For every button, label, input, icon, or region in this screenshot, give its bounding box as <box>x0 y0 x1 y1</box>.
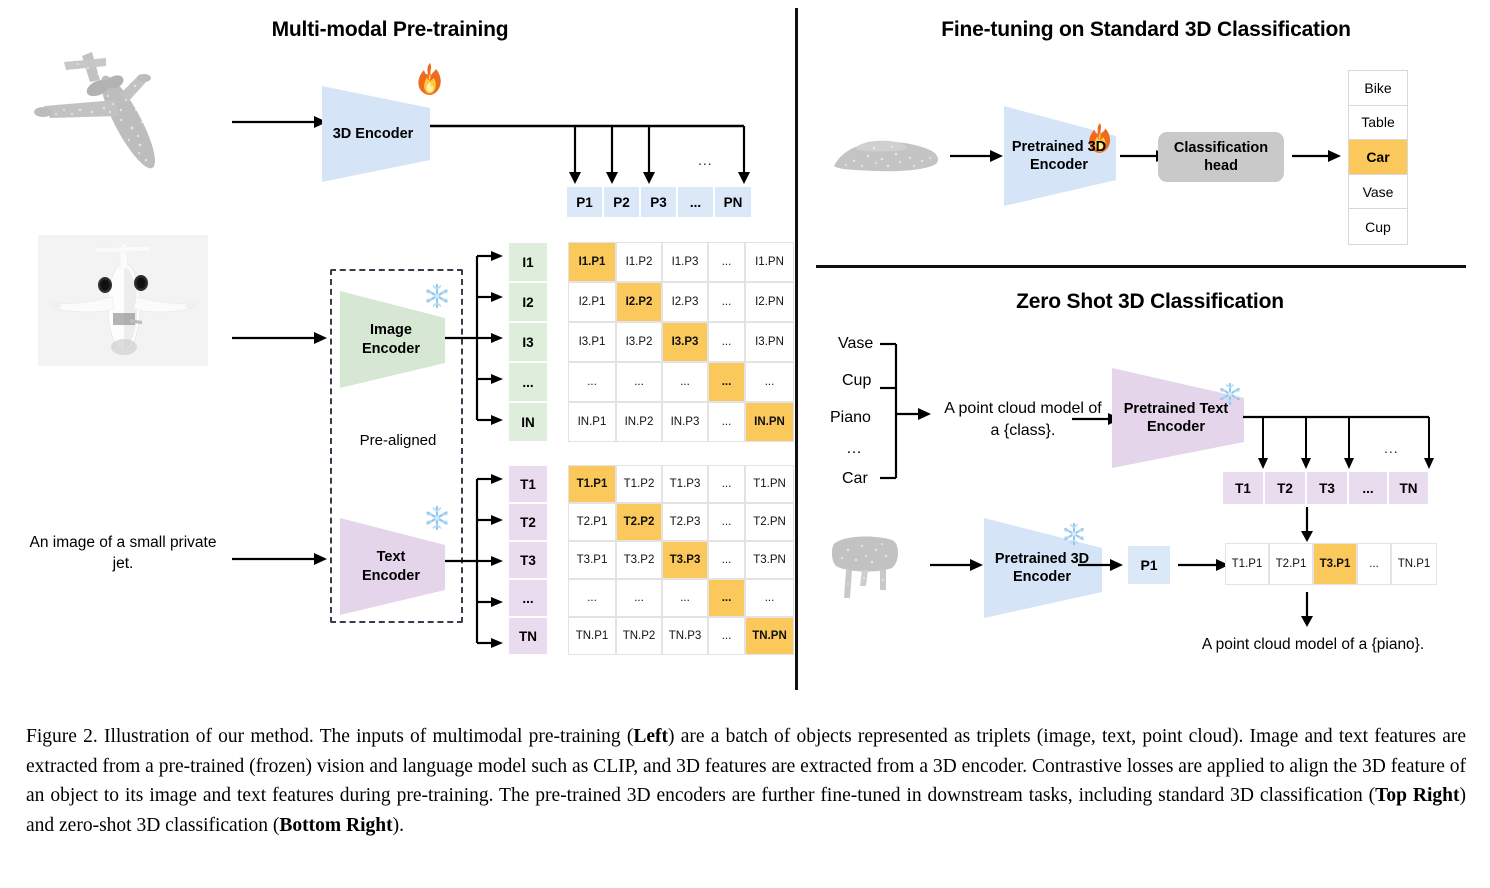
fanout-image-encoder-to-i-features <box>445 250 505 420</box>
zeroshot-class-item[interactable]: Piano <box>830 409 871 427</box>
text-point-similarity-matrix: T1.P1 T1.P2 T1.P3 ... T1.PN T2.P1 T2.P2 … <box>568 465 794 655</box>
zeroshot-class-item[interactable]: … <box>846 440 862 458</box>
matrix-cell[interactable]: ... <box>708 503 745 541</box>
encoder-3d[interactable]: 3D Encoder <box>322 86 430 182</box>
table-row: T1.P1 T1.P2 T1.P3 ... T1.PN <box>568 465 794 503</box>
i-feature-chip[interactable]: I2 <box>508 282 548 322</box>
pretrained-text-encoder-line2: Encoder <box>1124 418 1229 436</box>
t-feature-chip[interactable]: ... <box>1348 471 1388 505</box>
text-input-caption-value: An image of a small private jet. <box>30 534 217 572</box>
arrow-scores-to-result <box>1298 592 1316 628</box>
p-fanout-ellipsis: ... <box>698 152 713 168</box>
text-input-caption: An image of a small private jet. <box>25 533 221 575</box>
class-list-item[interactable]: Cup <box>1349 209 1407 244</box>
p-feature-chip[interactable]: PN <box>714 186 752 218</box>
text-encoder[interactable]: Text Encoder <box>340 518 445 615</box>
matrix-cell[interactable]: T1.P1 <box>568 465 616 503</box>
pretrained-3d-encoder-zeroshot-line2: Encoder <box>995 568 1089 586</box>
zeroshot-result-text: A point cloud model of a {piano}. <box>1168 636 1458 654</box>
matrix-cell[interactable]: I1.P3 <box>662 242 708 282</box>
matrix-cell[interactable]: T2.P2 <box>616 503 662 541</box>
fire-icon <box>415 62 445 96</box>
classification-head-line1: Classification <box>1174 139 1268 157</box>
matrix-cell[interactable]: TN.P2 <box>616 617 662 655</box>
pretrained-3d-encoder-label: Pretrained 3D Encoder <box>1012 138 1106 174</box>
bottom-right-panel-title: Zero Shot 3D Classification <box>970 290 1330 314</box>
matrix-cell[interactable]: T3.P1 <box>568 541 616 579</box>
zeroshot-class-item[interactable]: Cup <box>842 372 871 390</box>
pretrained-3d-encoder-line2: Encoder <box>1012 156 1106 174</box>
p-feature-chip[interactable]: P2 <box>603 186 640 218</box>
matrix-cell[interactable]: ... <box>708 362 745 402</box>
vertical-divider <box>795 8 798 690</box>
arrow-piano-to-pretrained-3d-encoder <box>930 556 986 574</box>
i-feature-chip[interactable]: I1 <box>508 242 548 282</box>
class-list-item[interactable]: Table <box>1349 106 1407 141</box>
t-feature-chip[interactable]: TN <box>508 617 548 655</box>
t-feature-chip[interactable]: T3 <box>1306 471 1348 505</box>
matrix-cell[interactable]: I2.P3 <box>662 282 708 322</box>
encoder-3d-label: 3D Encoder <box>333 125 414 143</box>
p-feature-chip[interactable]: P3 <box>640 186 677 218</box>
t-feature-chip[interactable]: TN <box>1388 471 1429 505</box>
matrix-cell[interactable]: TN.P3 <box>662 617 708 655</box>
matrix-cell[interactable]: TN.P1 <box>568 617 616 655</box>
table-row: T1.P1 T2.P1 T3.P1 ... TN.P1 <box>1225 543 1437 585</box>
matrix-cell[interactable]: I3.P1 <box>568 322 616 362</box>
matrix-cell[interactable]: T2.P1 <box>568 503 616 541</box>
matrix-cell[interactable]: ... <box>708 322 745 362</box>
matrix-cell[interactable]: T3.P2 <box>616 541 662 579</box>
matrix-cell[interactable]: T3.P3 <box>662 541 708 579</box>
arrow-t-chips-to-scores <box>1298 507 1316 543</box>
figure-caption: Figure 2. Illustration of our method. Th… <box>26 722 1466 841</box>
car-point-cloud <box>826 128 946 184</box>
pretrained-text-encoder-label: Pretrained Text Encoder <box>1124 400 1229 436</box>
finetune-class-list: Bike Table Car Vase Cup <box>1348 70 1408 245</box>
top-right-panel-title: Fine-tuning on Standard 3D Classificatio… <box>886 18 1406 42</box>
matrix-cell[interactable]: I2.PN <box>745 282 794 322</box>
piano-point-cloud <box>828 528 916 606</box>
class-list-item-selected[interactable]: Car <box>1349 140 1407 175</box>
matrix-cell[interactable]: ... <box>568 579 616 617</box>
pretrained-3d-encoder-zeroshot-line1: Pretrained 3D <box>995 550 1089 568</box>
t-fanout-ellipsis: ... <box>1384 440 1399 456</box>
arrow-image-to-image-encoder <box>232 328 332 348</box>
t-feature-chip[interactable]: T2 <box>508 503 548 541</box>
pretrained-text-encoder-line1: Pretrained Text <box>1124 400 1229 418</box>
matrix-cell[interactable]: I1.P2 <box>616 242 662 282</box>
i-feature-chip[interactable]: I3 <box>508 322 548 362</box>
image-encoder-label-line1: Image <box>362 321 420 339</box>
matrix-cell[interactable]: IN.P3 <box>662 402 708 442</box>
matrix-cell[interactable]: ... <box>708 282 745 322</box>
t-feature-column: T1 T2 T3 ... TN <box>508 465 548 655</box>
caption-text: Figure 2. Illustration of our method. Th… <box>26 726 1466 836</box>
matrix-cell[interactable]: ... <box>708 242 745 282</box>
matrix-cell[interactable]: I1.P1 <box>568 242 616 282</box>
t-feature-chip[interactable]: T1 <box>1222 471 1264 505</box>
table-row: I2.P1 I2.P2 I2.P3 ... I2.PN <box>568 282 794 322</box>
table-row: T3.P1 T3.P2 T3.P3 ... T3.PN <box>568 541 794 579</box>
matrix-cell[interactable]: TN.PN <box>745 617 794 655</box>
airplane-point-cloud <box>20 50 220 200</box>
i-feature-chip[interactable]: IN <box>508 402 548 442</box>
matrix-cell[interactable]: T2.PN <box>745 503 794 541</box>
classification-head[interactable]: Classification head <box>1158 132 1284 182</box>
score-cell-selected[interactable]: T3.P1 <box>1313 543 1357 585</box>
t-feature-chip[interactable]: T1 <box>508 465 548 503</box>
pre-aligned-label: Pre-aligned <box>343 432 453 449</box>
text-encoder-label-line1: Text <box>362 548 420 566</box>
classification-head-line2: head <box>1174 157 1268 175</box>
arrow-text-to-text-encoder <box>232 549 332 569</box>
t-feature-chip[interactable]: ... <box>508 579 548 617</box>
pretrained-3d-encoder-line1: Pretrained 3D <box>1012 138 1106 156</box>
matrix-cell[interactable]: ... <box>745 362 794 402</box>
matrix-cell[interactable]: I3.P2 <box>616 322 662 362</box>
i-feature-column: I1 I2 I3 ... IN <box>508 242 548 442</box>
classification-head-label: Classification head <box>1174 139 1268 175</box>
matrix-cell[interactable]: I2.P2 <box>616 282 662 322</box>
table-row: TN.P1 TN.P2 TN.P3 ... TN.PN <box>568 617 794 655</box>
matrix-cell[interactable]: T1.P3 <box>662 465 708 503</box>
p-feature-chip[interactable]: P1 <box>566 186 603 218</box>
p-feature-chip[interactable]: ... <box>677 186 714 218</box>
pretrained-3d-encoder-finetune[interactable]: Pretrained 3D Encoder <box>1004 106 1116 206</box>
matrix-cell[interactable]: ... <box>616 362 662 402</box>
t-feature-chip[interactable]: T2 <box>1264 471 1306 505</box>
arrow-car-to-pretrained-encoder <box>950 147 1006 165</box>
score-cell[interactable]: T1.P1 <box>1225 543 1269 585</box>
figure-root: Multi-modal Pre-training <box>0 0 1490 888</box>
score-cell[interactable]: T2.P1 <box>1269 543 1313 585</box>
image-encoder-label: Image Encoder <box>362 321 420 357</box>
zeroshot-class-item[interactable]: Car <box>842 470 868 488</box>
matrix-cell[interactable]: ... <box>708 541 745 579</box>
matrix-cell[interactable]: I1.PN <box>745 242 794 282</box>
t-feature-chip[interactable]: T3 <box>508 541 548 579</box>
p1-feature-chip[interactable]: P1 <box>1128 546 1170 584</box>
matrix-cell[interactable]: T1.P2 <box>616 465 662 503</box>
matrix-cell[interactable]: I3.P3 <box>662 322 708 362</box>
matrix-cell[interactable]: ... <box>568 362 616 402</box>
matrix-cell[interactable]: T3.PN <box>745 541 794 579</box>
arrow-pointcloud-to-3d-encoder <box>232 112 332 132</box>
table-row: T2.P1 T2.P2 T2.P3 ... T2.PN <box>568 503 794 541</box>
table-row: IN.P1 IN.P2 IN.P3 ... IN.PN <box>568 402 794 442</box>
fanout-text-encoder-to-t-features <box>445 473 505 643</box>
matrix-cell[interactable]: IN.PN <box>745 402 794 442</box>
matrix-cell[interactable]: IN.P2 <box>616 402 662 442</box>
class-list-item[interactable]: Bike <box>1349 71 1407 106</box>
matrix-cell[interactable]: ... <box>708 579 745 617</box>
fanout-text-encoder-to-t-chips <box>1243 412 1437 474</box>
score-cell[interactable]: TN.P1 <box>1391 543 1437 585</box>
rendered-jet-image <box>38 235 208 366</box>
matrix-cell[interactable]: ... <box>662 579 708 617</box>
image-point-similarity-matrix: I1.P1 I1.P2 I1.P3 ... I1.PN I2.P1 I2.P2 … <box>568 242 794 442</box>
horizontal-divider <box>816 265 1466 268</box>
matrix-cell[interactable]: ... <box>708 465 745 503</box>
zeroshot-score-row: T1.P1 T2.P1 T3.P1 ... TN.P1 <box>1225 543 1437 585</box>
matrix-cell[interactable]: T1.PN <box>745 465 794 503</box>
arrow-head-to-class-list <box>1292 147 1344 165</box>
zeroshot-t-feature-row: T1 T2 T3 ... TN <box>1222 471 1429 505</box>
matrix-cell[interactable]: ... <box>708 402 745 442</box>
matrix-cell[interactable]: ... <box>662 362 708 402</box>
matrix-cell[interactable]: I2.P1 <box>568 282 616 322</box>
matrix-cell[interactable]: ... <box>616 579 662 617</box>
class-list-item[interactable]: Vase <box>1349 175 1407 210</box>
arrow-p1-to-scores <box>1178 556 1232 574</box>
i-feature-chip[interactable]: ... <box>508 362 548 402</box>
left-panel-title: Multi-modal Pre-training <box>190 18 590 42</box>
matrix-cell[interactable]: T2.P3 <box>662 503 708 541</box>
score-cell[interactable]: ... <box>1357 543 1391 585</box>
text-encoder-label-line2: Encoder <box>362 567 420 585</box>
matrix-cell[interactable]: IN.P1 <box>568 402 616 442</box>
matrix-cell[interactable]: ... <box>708 617 745 655</box>
zeroshot-class-item[interactable]: Vase <box>838 335 873 353</box>
table-row: I3.P1 I3.P2 I3.P3 ... I3.PN <box>568 322 794 362</box>
table-row: I1.P1 I1.P2 I1.P3 ... I1.PN <box>568 242 794 282</box>
p-feature-row: P1 P2 P3 ... PN <box>566 186 752 218</box>
matrix-cell[interactable]: I3.PN <box>745 322 794 362</box>
matrix-cell[interactable]: ... <box>745 579 794 617</box>
table-row: ... ... ... ... ... <box>568 362 794 402</box>
snowflake-icon <box>1062 522 1086 546</box>
pretrained-3d-encoder-zeroshot-label: Pretrained 3D Encoder <box>995 550 1089 586</box>
table-row: ... ... ... ... ... <box>568 579 794 617</box>
image-encoder-label-line2: Encoder <box>362 340 420 358</box>
text-encoder-label: Text Encoder <box>362 548 420 584</box>
